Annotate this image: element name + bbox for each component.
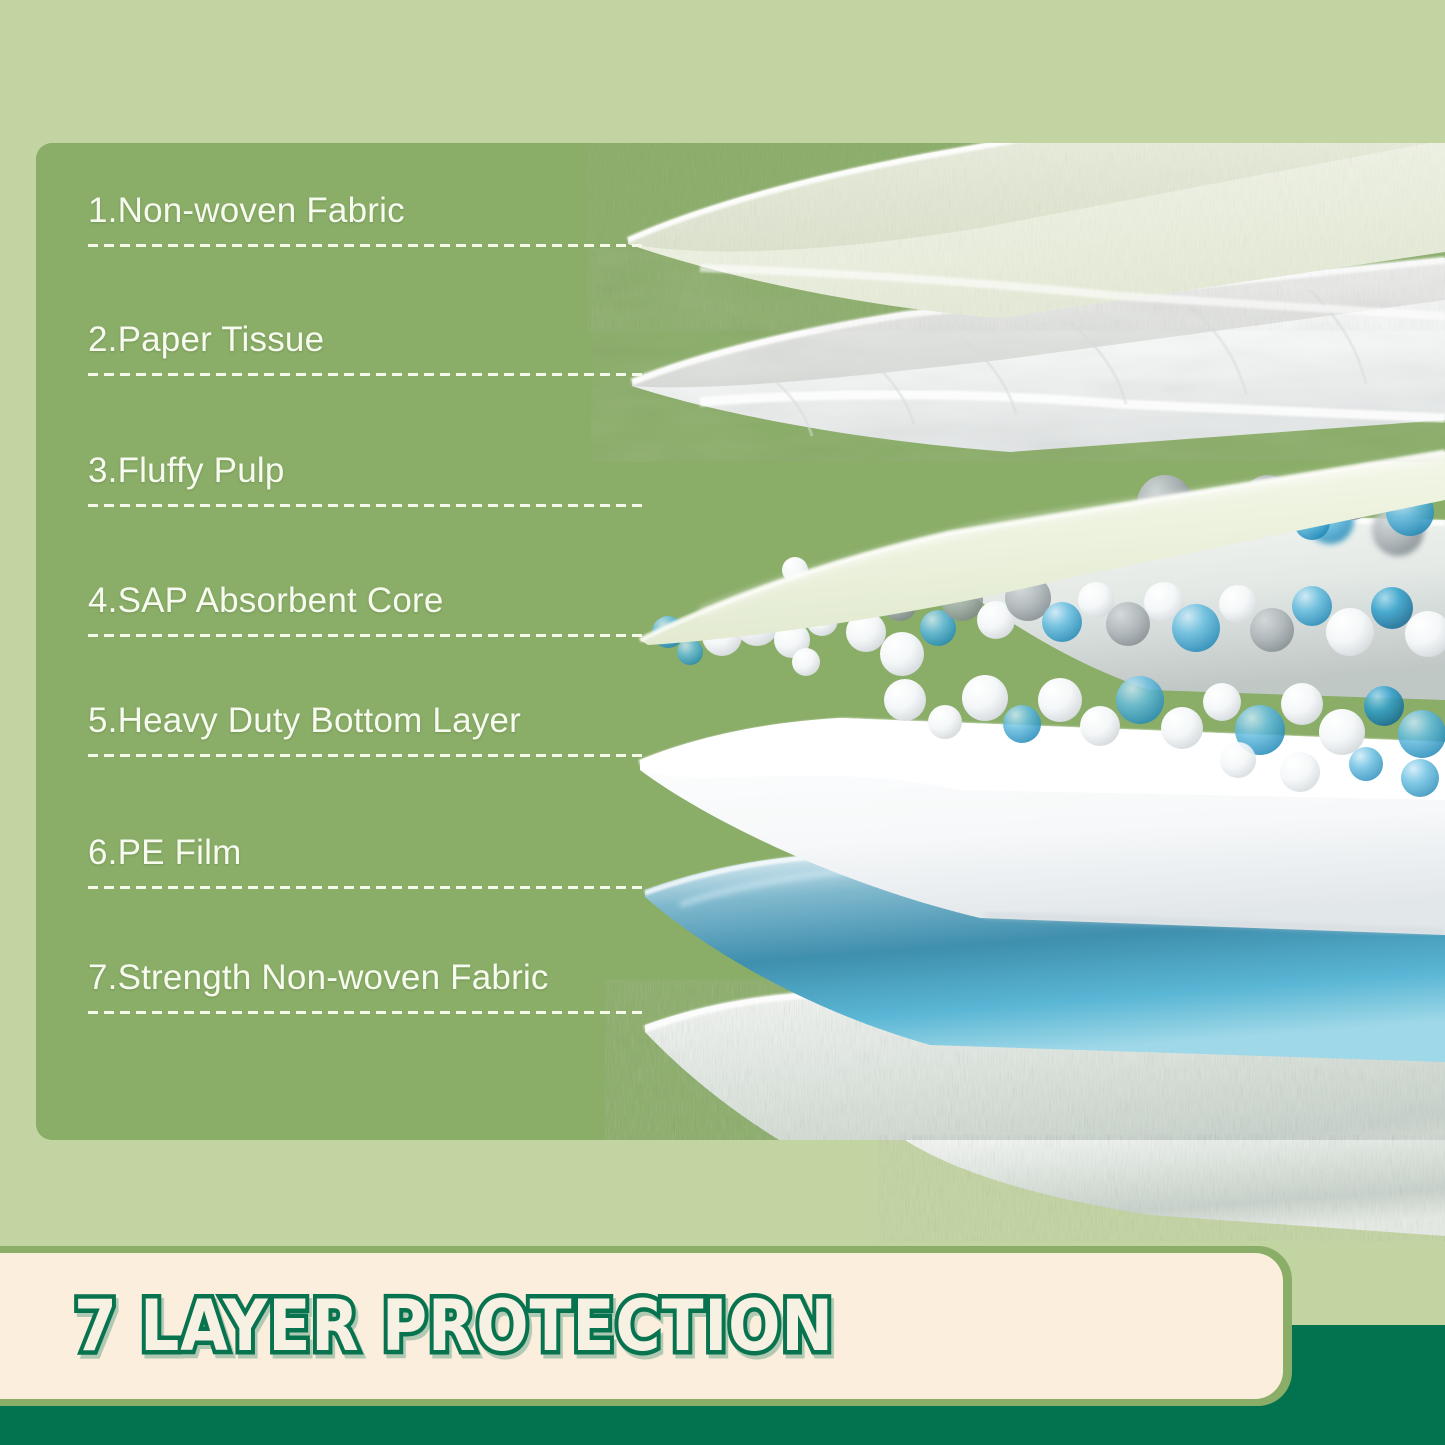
- banner-cream-panel: 7 LAYER PROTECTION: [0, 1253, 1283, 1399]
- layer-leader-line-7: [88, 1011, 648, 1014]
- layer-leader-line-6: [88, 886, 643, 889]
- layer-label-4: 4.SAP Absorbent Core: [88, 583, 688, 637]
- layer-label-3: 3.Fluffy Pulp: [88, 453, 688, 507]
- layer-label-6: 6.PE Film: [88, 835, 688, 889]
- layer-label-2: 2.Paper Tissue: [88, 322, 688, 376]
- layer-leader-line-1: [88, 244, 643, 247]
- layer-leader-line-3: [88, 504, 643, 507]
- layer-leader-line-4: [88, 634, 643, 637]
- layer-leader-line-2: [88, 373, 643, 376]
- layer-leader-line-5: [88, 754, 643, 757]
- layer-label-list: 1.Non-woven Fabric 2.Paper Tissue 3.Fluf…: [36, 143, 696, 1140]
- layer-label-6-text: 6.PE Film: [88, 835, 688, 872]
- banner-title-text: 7 LAYER PROTECTION: [74, 1291, 834, 1361]
- layer-label-4-text: 4.SAP Absorbent Core: [88, 583, 688, 620]
- layer-label-1-text: 1.Non-woven Fabric: [88, 193, 688, 230]
- layer-label-7-text: 7.Strength Non-woven Fabric: [88, 960, 688, 997]
- layer-label-5: 5.Heavy Duty Bottom Layer: [88, 703, 688, 757]
- layer-label-1: 1.Non-woven Fabric: [88, 193, 688, 247]
- layer-7-overflow: [905, 1140, 1445, 1236]
- layer-label-2-text: 2.Paper Tissue: [88, 322, 688, 359]
- layer-label-7: 7.Strength Non-woven Fabric: [88, 960, 688, 1014]
- layer-label-3-text: 3.Fluffy Pulp: [88, 453, 688, 490]
- layer-label-5-text: 5.Heavy Duty Bottom Layer: [88, 703, 688, 740]
- infographic-canvas: 1.Non-woven Fabric 2.Paper Tissue 3.Fluf…: [0, 0, 1445, 1445]
- bottom-banner: 7 LAYER PROTECTION: [0, 1246, 1292, 1406]
